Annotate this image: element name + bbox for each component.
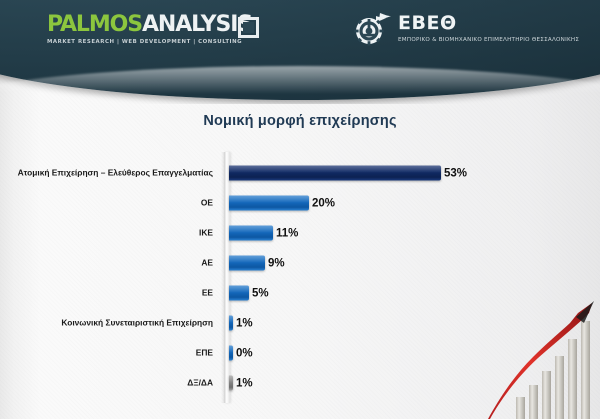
bar-category-label: ΕΕ (8, 288, 213, 299)
bar-category-label: ΑΕ (8, 258, 213, 269)
bar: 20% (229, 196, 309, 211)
bar-wrapper: 53% (229, 166, 441, 181)
bar-category-label: Ατομική Επιχείρηση – Ελεύθερος Επαγγελμα… (8, 168, 213, 179)
slide-header: PALMOSANALYSIS MARKET RESEARCH | WEB DEV… (0, 0, 600, 104)
ebeth-subtitle: ΕΜΠΟΡΙΚΟ & ΒΙΟΜΗΧΑΝΙΚΟ ΕΠΙΜΕΛΗΤΗΡΙΟ ΘΕΣΣ… (398, 37, 579, 43)
ebeth-gear-wing-icon (352, 10, 392, 46)
bar-row: ΙΚΕ11% (0, 218, 600, 248)
bar-value-label: 1% (236, 317, 253, 329)
bar: 0% (229, 346, 233, 361)
bar-value-label: 9% (268, 257, 285, 269)
bar-category-label: ΟΕ (8, 198, 213, 209)
palmos-word-secondary: ANALYSIS (142, 12, 252, 37)
ebeth-name: ΕΒΕΘ (398, 14, 579, 33)
ebeth-logo: ΕΒΕΘ ΕΜΠΟΡΙΚΟ & ΒΙΟΜΗΧΑΝΙΚΟ ΕΠΙΜΕΛΗΤΗΡΙΟ… (352, 8, 582, 52)
bar: 53% (229, 166, 441, 181)
bar-row: ΟΕ20% (0, 188, 600, 218)
bar-value-label: 20% (312, 197, 335, 209)
palmos-tagline: MARKET RESEARCH | WEB DEVELOPMENT | CONS… (47, 39, 237, 45)
bar-wrapper: 20% (229, 196, 309, 211)
bar: 1% (229, 316, 233, 331)
bar-category-label: ΕΠΕ (8, 348, 213, 359)
bar-value-label: 53% (444, 167, 467, 179)
chart-slide: PALMOSANALYSIS MARKET RESEARCH | WEB DEV… (0, 0, 600, 419)
bar-row: Ατομική Επιχείρηση – Ελεύθερος Επαγγελμα… (0, 158, 600, 188)
chart-title: Νομική μορφή επιχείρησης (0, 113, 600, 129)
decorative-growth-graphic (488, 301, 600, 419)
bar-value-label: 5% (252, 287, 269, 299)
bar: 9% (229, 256, 265, 271)
palmos-wordmark: PALMOSANALYSIS (47, 14, 237, 36)
palmos-word-primary: PALMOS (47, 12, 142, 37)
bar: 5% (229, 286, 249, 301)
growth-arrow-icon (488, 301, 600, 419)
bar-value-label: 1% (236, 377, 253, 389)
bar-value-label: 0% (236, 347, 253, 359)
bar: 11% (229, 226, 273, 241)
bar-wrapper: 9% (229, 256, 265, 271)
bar-value-label: 11% (276, 227, 298, 239)
ebeth-text-block: ΕΒΕΘ ΕΜΠΟΡΙΚΟ & ΒΙΟΜΗΧΑΝΙΚΟ ΕΠΙΜΕΛΗΤΗΡΙΟ… (398, 14, 579, 43)
bar-category-label: Κοινωνική Συνεταιριστική Επιχείρηση (8, 318, 213, 329)
bar-category-label: ΔΞ/ΔΑ (8, 378, 213, 389)
bar-wrapper: 1% (229, 376, 233, 391)
bar-wrapper: 0% (229, 346, 233, 361)
bar: 1% (229, 376, 233, 391)
bar-category-label: ΙΚΕ (8, 228, 213, 239)
bar-wrapper: 1% (229, 316, 233, 331)
bar-row: ΑΕ9% (0, 248, 600, 278)
bar-wrapper: 11% (229, 226, 273, 241)
bar-wrapper: 5% (229, 286, 249, 301)
palmos-analysis-logo: PALMOSANALYSIS MARKET RESEARCH | WEB DEV… (47, 14, 237, 50)
palmos-square-icon (238, 17, 259, 38)
